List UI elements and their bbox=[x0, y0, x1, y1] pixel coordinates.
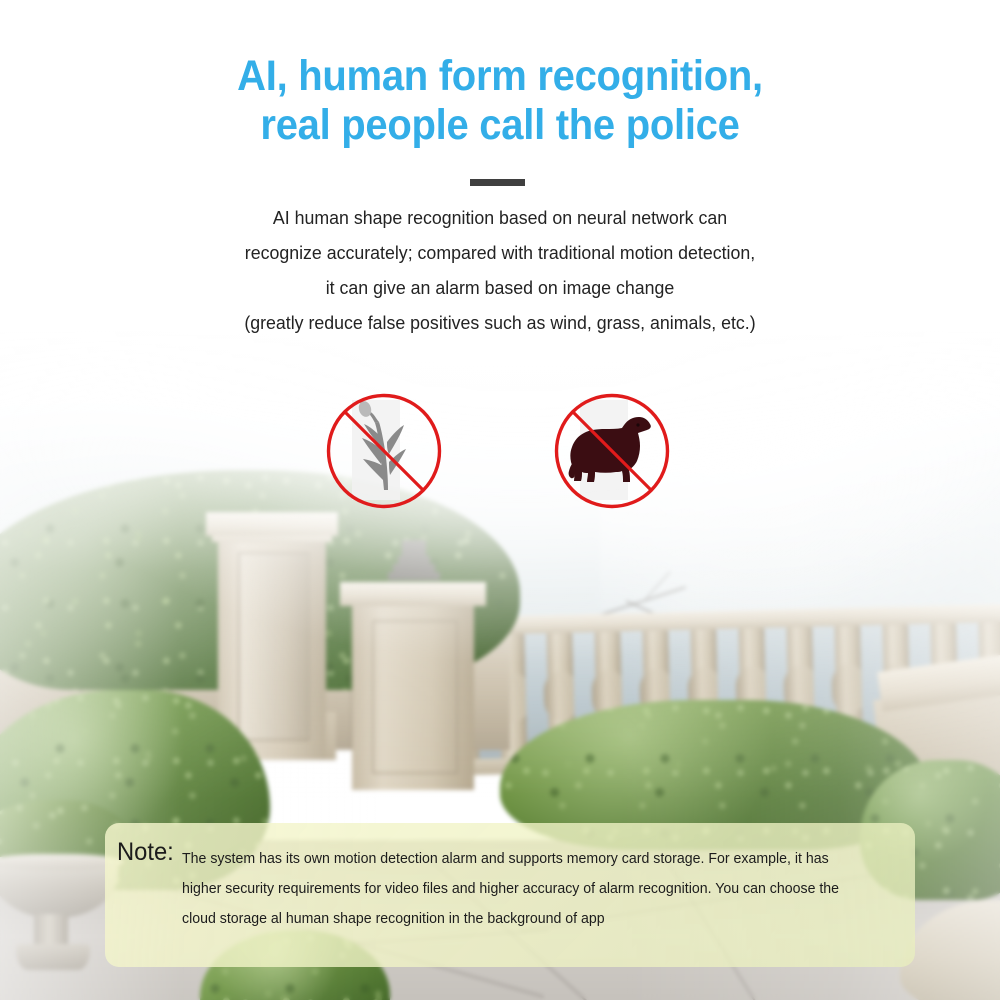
pillar-finial bbox=[393, 564, 435, 572]
pillar-finial bbox=[398, 556, 430, 564]
note-callout: Note: The system has its own motion dete… bbox=[105, 823, 915, 967]
stone-pillar-right-cap bbox=[340, 582, 486, 606]
stone-pillar-right-inset bbox=[372, 620, 458, 774]
no-dog-icon-graphic bbox=[553, 392, 671, 510]
description-text: AI human shape recognition based on neur… bbox=[20, 200, 980, 340]
stone-urn-foot bbox=[16, 944, 90, 970]
note-body-text: The system has its own motion detection … bbox=[182, 837, 870, 934]
pillar-finial bbox=[402, 540, 426, 556]
page-title: AI, human form recognition, real people … bbox=[35, 52, 965, 150]
no-dog-icon bbox=[553, 392, 671, 510]
pillar-finial bbox=[388, 572, 440, 580]
note-label: Note: bbox=[117, 837, 179, 867]
stone-pillar-left-inset bbox=[238, 552, 310, 741]
no-grass-icon bbox=[325, 392, 443, 510]
no-grass-icon-graphic bbox=[325, 392, 443, 510]
section-divider bbox=[470, 179, 525, 186]
promo-page: AI, human form recognition, real people … bbox=[0, 0, 1000, 1000]
stone-urn-stem bbox=[34, 914, 68, 948]
stone-pillar-left-cap bbox=[206, 512, 338, 536]
